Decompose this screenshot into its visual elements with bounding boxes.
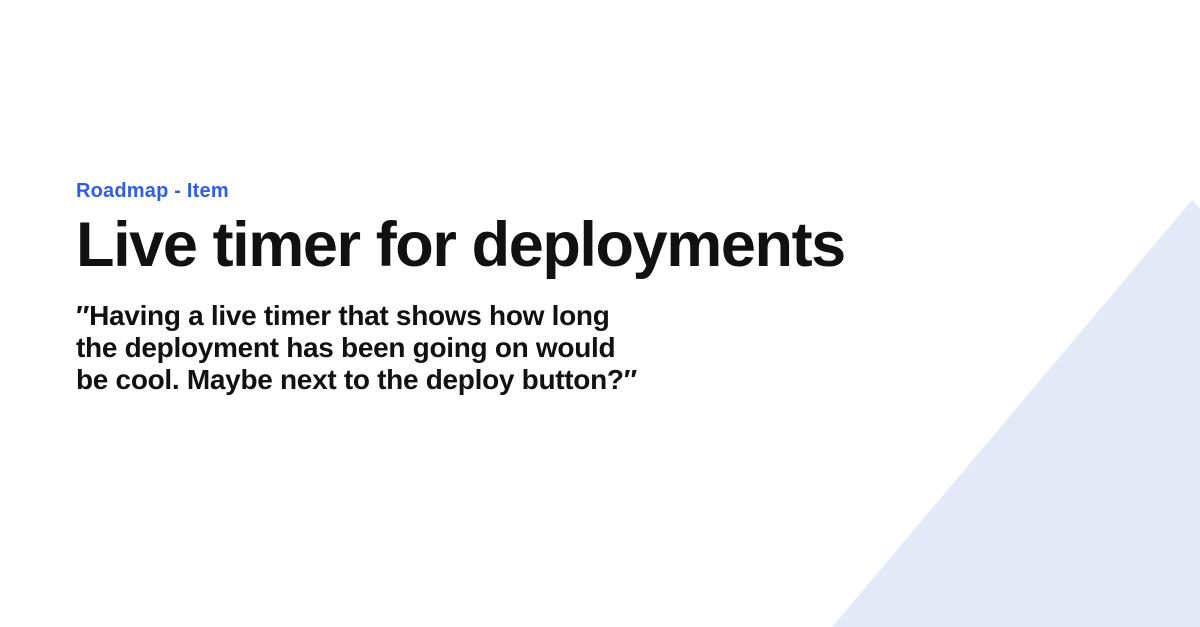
feedback-quote: ″Having a live timer that shows how long… [76,300,651,396]
roadmap-item-card: Roadmap - Item Live timer for deployment… [0,0,1200,627]
breadcrumb-eyebrow: Roadmap - Item [76,178,936,204]
page-title: Live timer for deployments [76,210,936,280]
card-content: Roadmap - Item Live timer for deployment… [76,178,936,396]
